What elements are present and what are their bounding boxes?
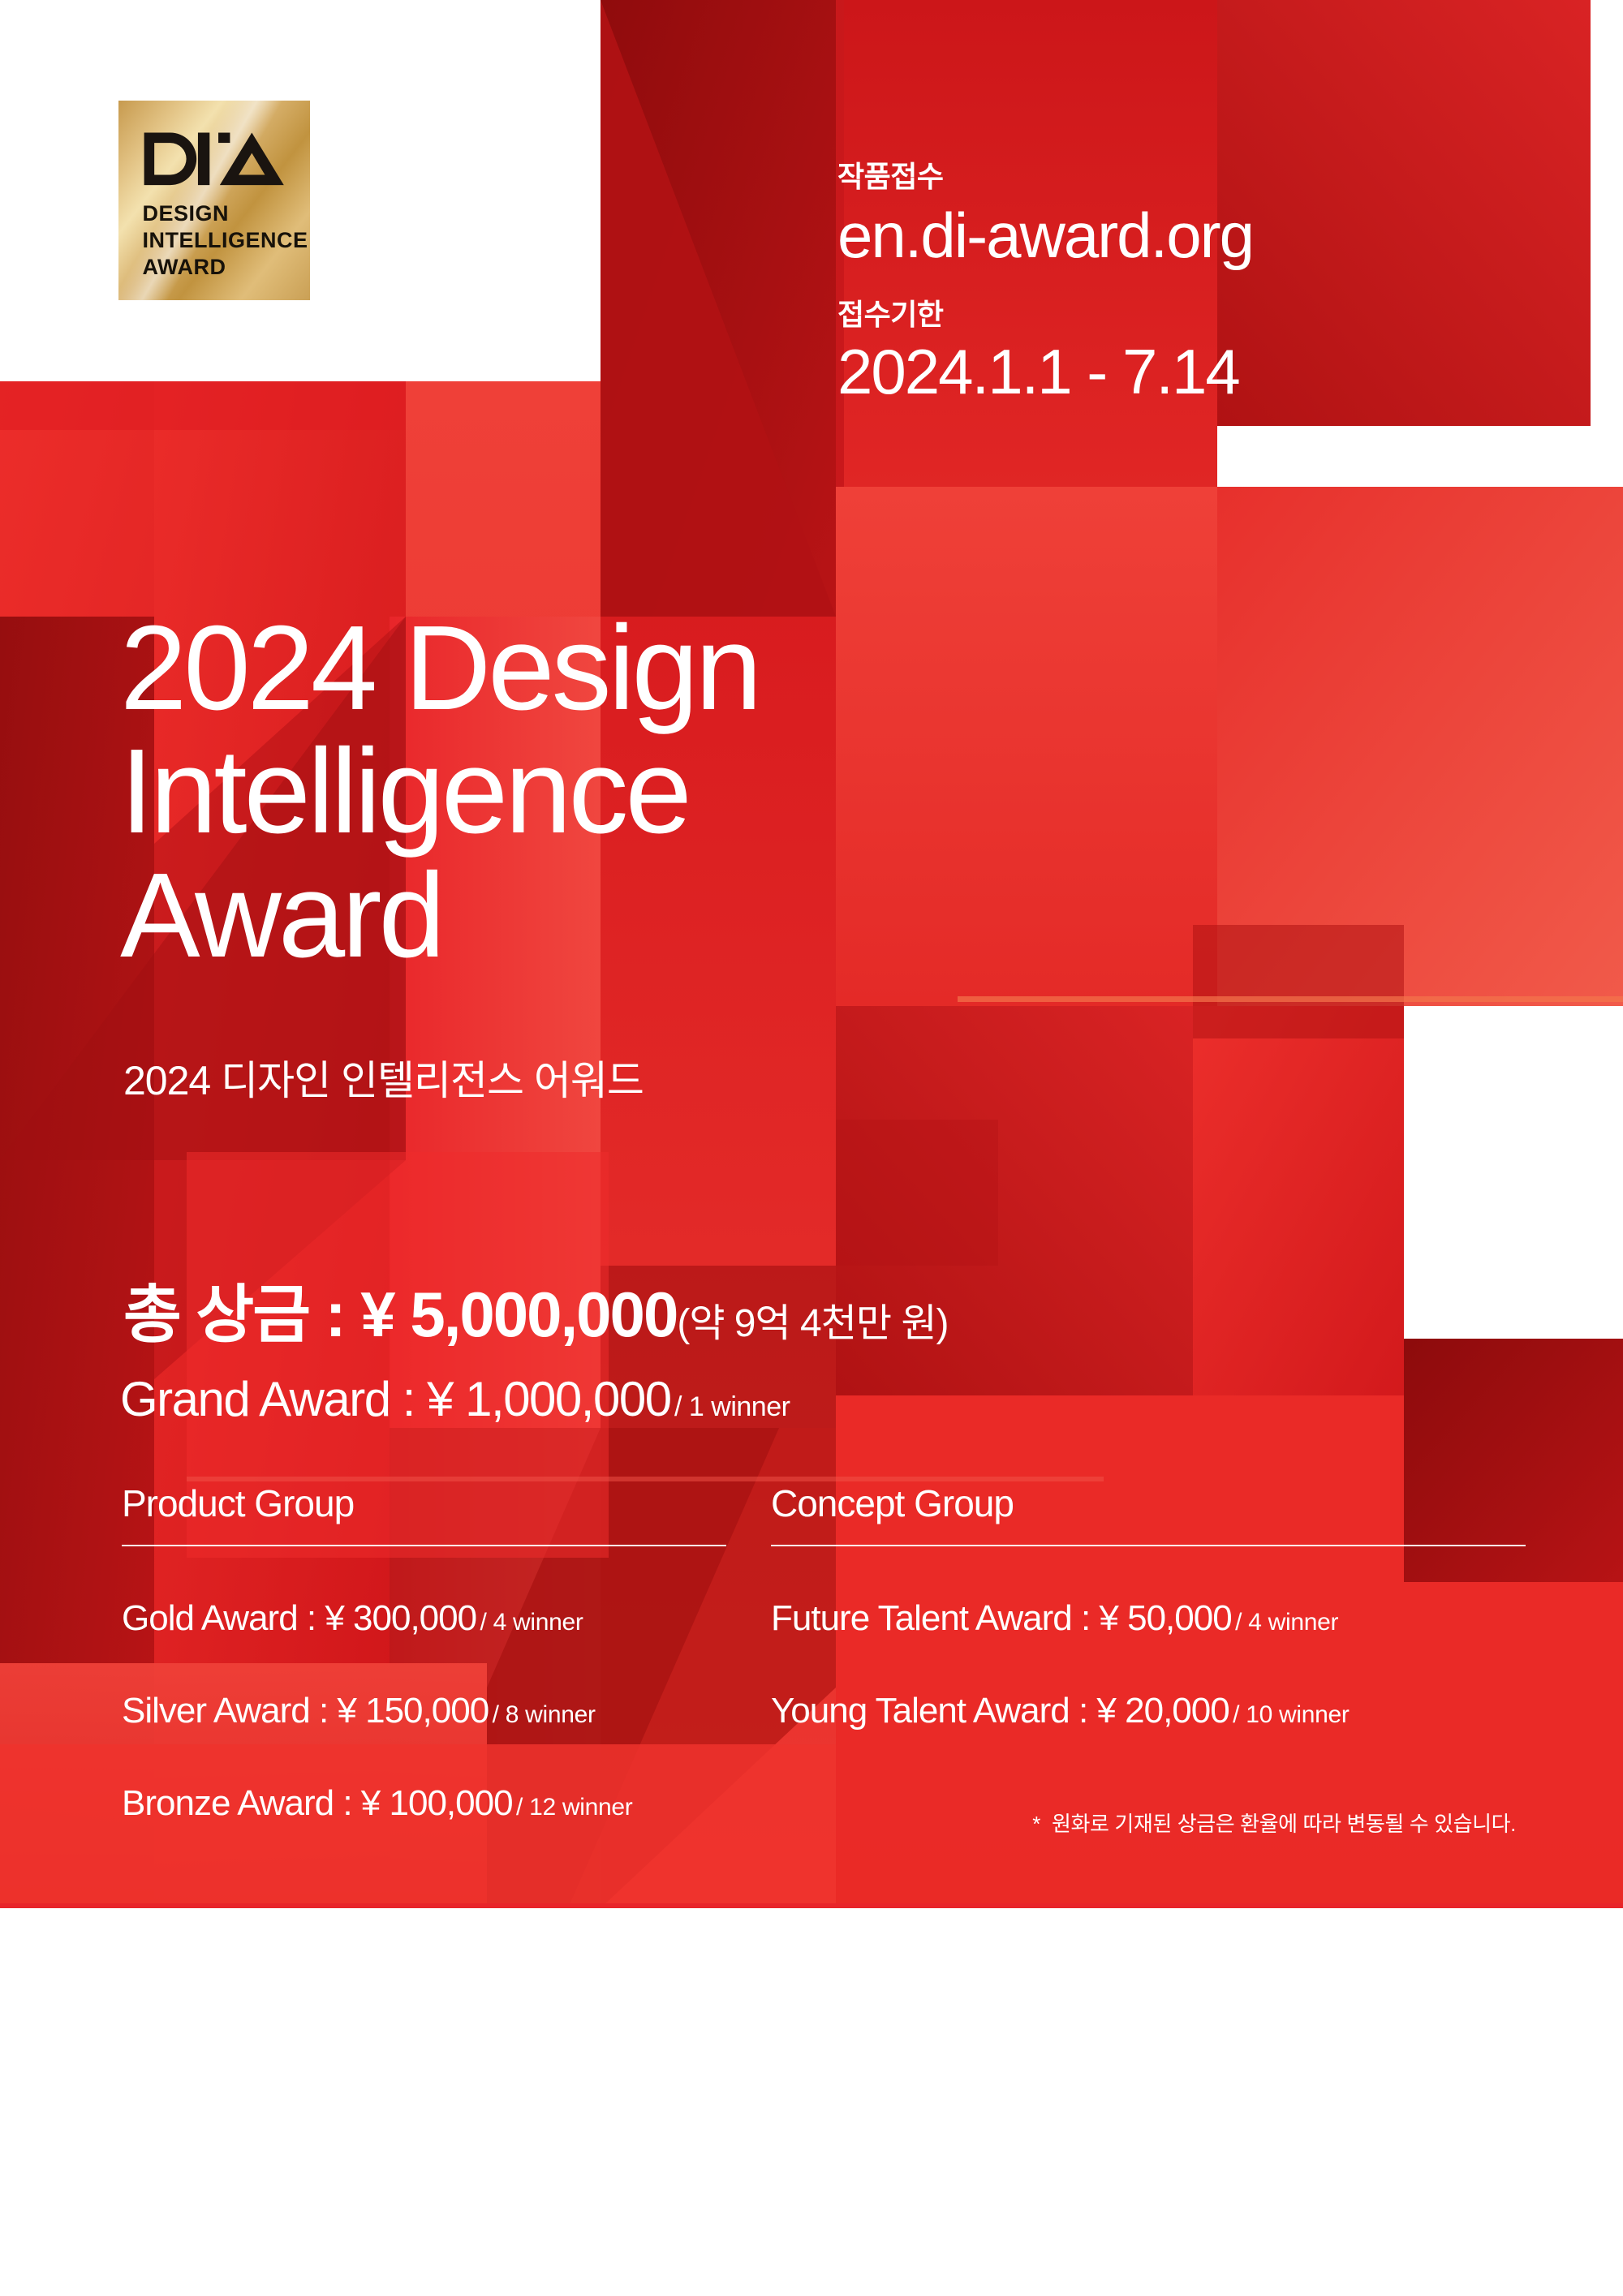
logo-gold-plate: DESIGN INTELLIGENCE AWARD (118, 101, 310, 300)
title-line-3: Award (120, 854, 1094, 978)
deadline-label: 접수기한 (837, 297, 1487, 332)
silver-award-amount: Silver Award : ¥ 150,000 (122, 1691, 489, 1731)
logo-word-award: AWARD (143, 254, 299, 281)
submission-url[interactable]: en.di-award.org (837, 202, 1487, 269)
footer: Supporter : The People's Government of Z… (0, 1908, 1623, 2296)
dia-logo: DESIGN INTELLIGENCE AWARD (114, 96, 315, 305)
total-prize-amount: 총 상금 : ¥ 5,000,000 (123, 1279, 677, 1350)
logo-word-intelligence: INTELLIGENCE (143, 227, 299, 254)
product-group-heading: Product Group (122, 1485, 730, 1522)
exchange-rate-footnote: *원화로 기재된 상금은 환율에 따라 변동될 수 있습니다. (0, 1808, 1516, 1838)
grand-award: Grand Award : ¥ 1,000,000 / 1 winner (120, 1371, 790, 1427)
total-prize-krw: (약 9억 4천만 원) (677, 1302, 948, 1345)
footnote-text: 원화로 기재된 상금은 환율에 따라 변동될 수 있습니다. (1052, 1812, 1516, 1836)
grand-award-winners: / 1 winner (674, 1391, 790, 1422)
product-group-divider (122, 1545, 726, 1546)
young-talent-award-winners: / 10 winner (1233, 1701, 1349, 1728)
award-row: Gold Award : ¥ 300,000 / 4 winner (122, 1598, 730, 1639)
dia-monogram-icon (141, 125, 286, 193)
award-row: Silver Award : ¥ 150,000 / 8 winner (122, 1691, 730, 1731)
deadline-date: 2024.1.1 - 7.14 (837, 338, 1487, 406)
gold-award-winners: / 4 winner (480, 1609, 583, 1636)
gold-award-amount: Gold Award : ¥ 300,000 (122, 1598, 476, 1638)
future-talent-award-winners: / 4 winner (1235, 1609, 1338, 1636)
submission-label: 작품접수 (837, 159, 1487, 194)
concept-group-heading: Concept Group (771, 1485, 1526, 1522)
award-row: Future Talent Award : ¥ 50,000 / 4 winne… (771, 1598, 1526, 1639)
footnote-asterisk: * (1032, 1812, 1040, 1836)
poster-root: DESIGN INTELLIGENCE AWARD 작품접수 en.di-awa… (0, 0, 1623, 2296)
future-talent-award-amount: Future Talent Award : ¥ 50,000 (771, 1598, 1232, 1638)
young-talent-award-amount: Young Talent Award : ¥ 20,000 (771, 1691, 1229, 1731)
logo-wordmark: DESIGN INTELLIGENCE AWARD (143, 200, 299, 281)
concept-group-column: Concept Group Future Talent Award : ¥ 50… (771, 1485, 1526, 1731)
concept-group-divider (771, 1545, 1526, 1546)
page-title: 2024 Design Intelligence Award (120, 607, 1094, 978)
grand-award-amount: Grand Award : ¥ 1,000,000 (120, 1372, 671, 1426)
product-group-column: Product Group Gold Award : ¥ 300,000 / 4… (122, 1485, 730, 1824)
submission-info: 작품접수 en.di-award.org 접수기한 2024.1.1 - 7.1… (837, 159, 1487, 406)
page-subtitle: 2024 디자인 인텔리전스 어워드 (123, 1048, 644, 1107)
logo-word-design: DESIGN (143, 200, 299, 227)
total-prize: 총 상금 : ¥ 5,000,000(약 9억 4천만 원) (123, 1264, 949, 1355)
title-line-2: Intelligence (120, 730, 1094, 853)
award-row: Young Talent Award : ¥ 20,000 / 10 winne… (771, 1691, 1526, 1731)
title-line-1: 2024 Design (120, 607, 1094, 730)
silver-award-winners: / 8 winner (493, 1701, 596, 1728)
